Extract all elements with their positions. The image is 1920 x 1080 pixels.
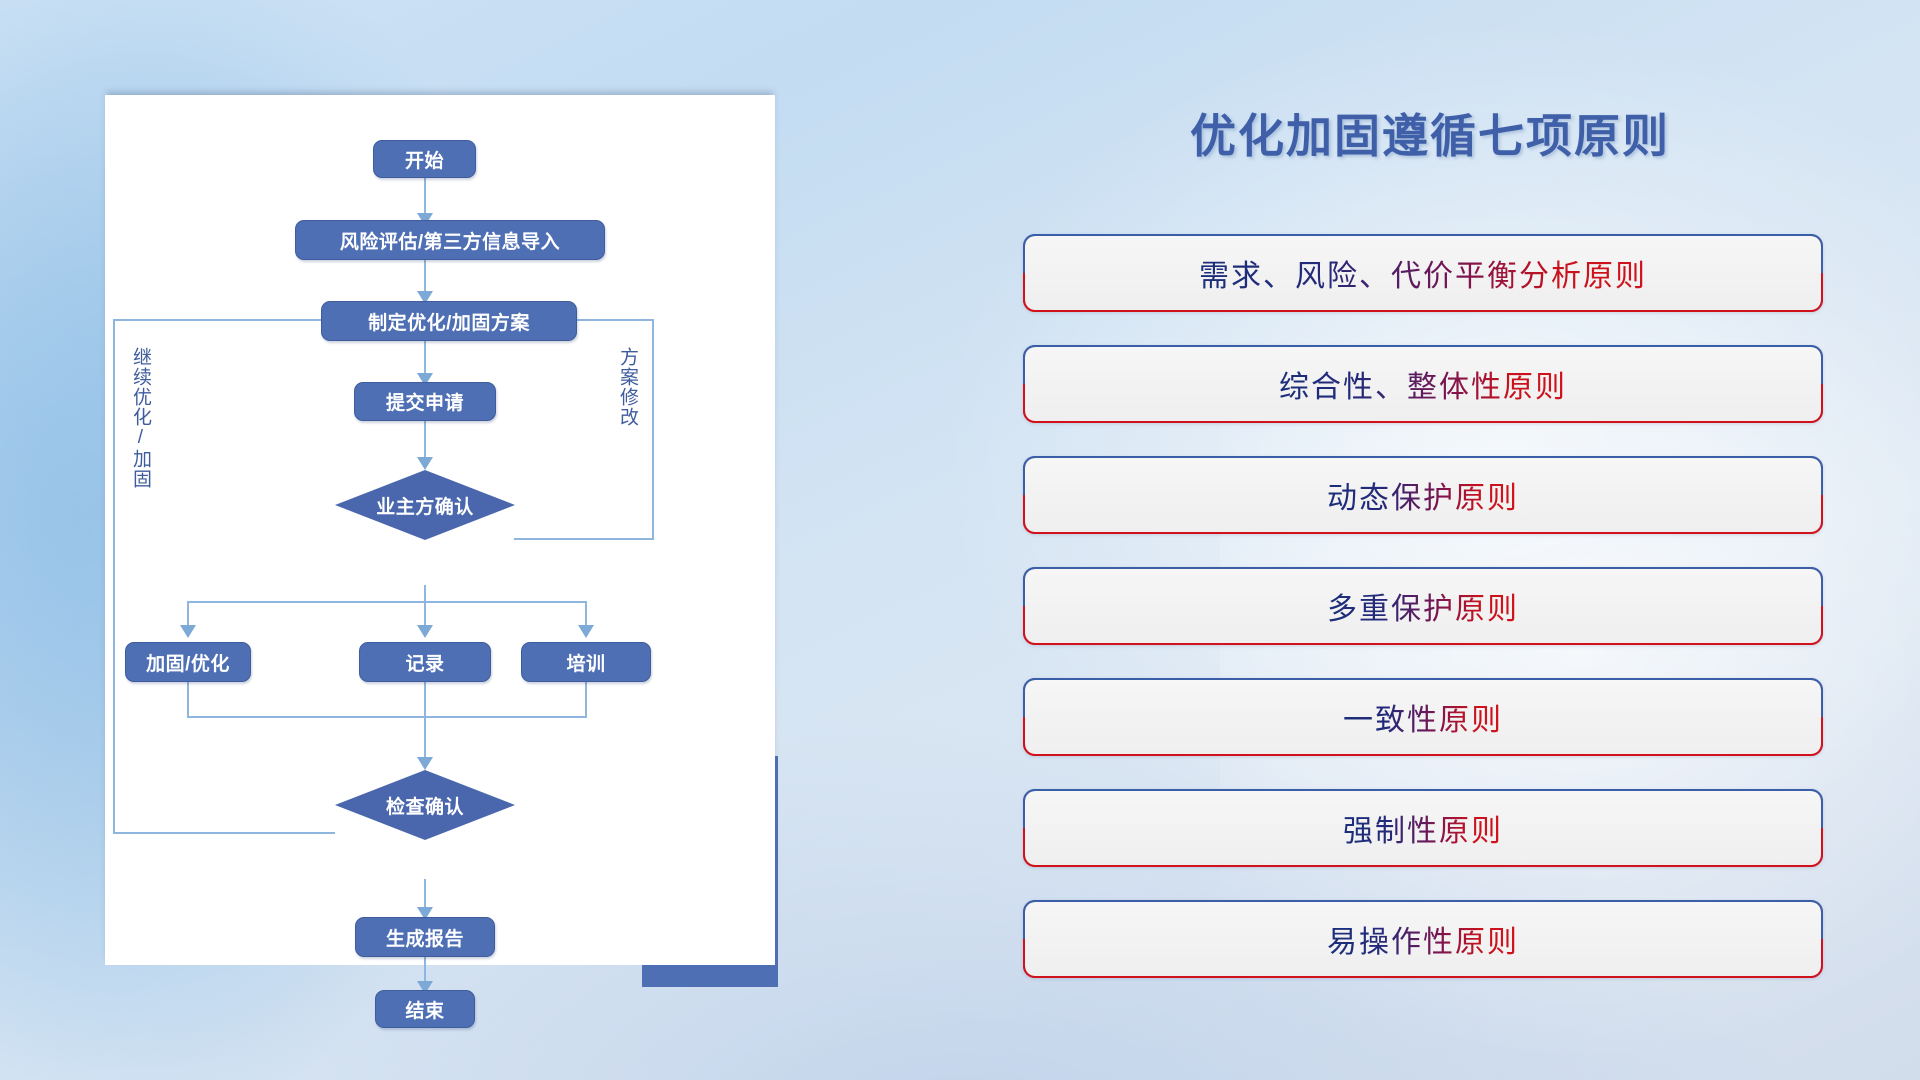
flow-node-label: 加固/优化 (146, 649, 230, 676)
connector-owner-right (514, 538, 654, 540)
connector-reinforce-down (187, 682, 189, 718)
principle-label: 强制性原则 (1343, 806, 1503, 850)
arrowhead-to-train (578, 625, 594, 638)
arrowhead-to-check (417, 757, 433, 770)
connector-merge-bus (187, 716, 587, 718)
flow-node-label: 提交申请 (386, 388, 464, 415)
connector-record-to-check (424, 682, 426, 766)
flow-node-end[interactable]: 结束 (375, 990, 475, 1028)
principle-label: 易操作性原则 (1327, 917, 1519, 961)
principle-card[interactable]: 强制性原则 (1023, 789, 1823, 867)
principle-card[interactable]: 综合性、整体性原则 (1023, 345, 1823, 423)
arrowhead-to-record (417, 625, 433, 638)
principle-card[interactable]: 一致性原则 (1023, 678, 1823, 756)
principle-label: 动态保护原则 (1327, 473, 1519, 517)
principles-column: 优化加固遵循七项原则 需求、风险、代价平衡分析原则 综合性、整体性原则 动态保护… (1020, 0, 1840, 1080)
flow-node-report[interactable]: 生成报告 (355, 917, 495, 957)
flowchart-panel: 开始 风险评估/第三方信息导入 制定优化/加固方案 提交申请 业主方确认 加固/… (105, 95, 775, 965)
flow-node-label: 制定优化/加固方案 (368, 308, 530, 335)
flow-node-label: 结束 (405, 996, 444, 1023)
principle-card[interactable]: 易操作性原则 (1023, 900, 1823, 978)
principle-label: 一致性原则 (1343, 695, 1503, 739)
flow-node-training[interactable]: 培训 (521, 642, 651, 682)
flowchart-canvas: 开始 风险评估/第三方信息导入 制定优化/加固方案 提交申请 业主方确认 加固/… (105, 95, 775, 965)
flow-node-record[interactable]: 记录 (359, 642, 491, 682)
flow-node-submit[interactable]: 提交申请 (354, 382, 496, 421)
flow-node-label: 记录 (405, 649, 444, 676)
principle-label: 综合性、整体性原则 (1279, 362, 1567, 406)
arrowhead-submit-to-owner (417, 457, 433, 470)
arrowhead-to-reinforce (180, 625, 196, 638)
flow-node-label: 培训 (566, 649, 605, 676)
flow-node-risk-assessment[interactable]: 风险评估/第三方信息导入 (295, 220, 605, 260)
connector-branch-bus (187, 601, 587, 603)
flow-node-label: 生成报告 (386, 924, 464, 951)
principle-card[interactable]: 动态保护原则 (1023, 456, 1823, 534)
principle-card[interactable]: 多重保护原则 (1023, 567, 1823, 645)
flow-decision-check-confirm[interactable]: 检查确认 (335, 770, 515, 840)
flow-node-label: 风险评估/第三方信息导入 (340, 227, 560, 254)
flow-decision-label: 检查确认 (335, 770, 515, 840)
slide-root: 开始 风险评估/第三方信息导入 制定优化/加固方案 提交申请 业主方确认 加固/… (0, 0, 1920, 1080)
connector-left-loop-back (113, 319, 351, 321)
principle-label: 多重保护原则 (1327, 584, 1519, 628)
edge-label-continue-optimize: 继续优化/加固 (130, 347, 150, 489)
flow-node-reinforce[interactable]: 加固/优化 (125, 642, 251, 682)
edge-label-revise-plan: 方案修改 (617, 347, 637, 427)
principle-card[interactable]: 需求、风险、代价平衡分析原则 (1023, 234, 1823, 312)
principles-card-list: 需求、风险、代价平衡分析原则 综合性、整体性原则 动态保护原则 多重保护原则 一… (1023, 234, 1823, 1011)
flow-node-plan[interactable]: 制定优化/加固方案 (321, 301, 577, 341)
flow-node-start[interactable]: 开始 (373, 140, 476, 178)
connector-train-down (585, 682, 587, 718)
connector-owner-right-up (652, 319, 654, 540)
principle-label: 需求、风险、代价平衡分析原则 (1199, 251, 1647, 295)
flow-node-label: 开始 (405, 146, 444, 173)
connector-check-left (113, 832, 335, 834)
connector-left-loop-up (113, 319, 115, 834)
flow-decision-label: 业主方确认 (335, 470, 515, 540)
flow-decision-owner-confirm[interactable]: 业主方确认 (335, 470, 515, 540)
principles-title: 优化加固遵循七项原则 (1020, 100, 1840, 166)
